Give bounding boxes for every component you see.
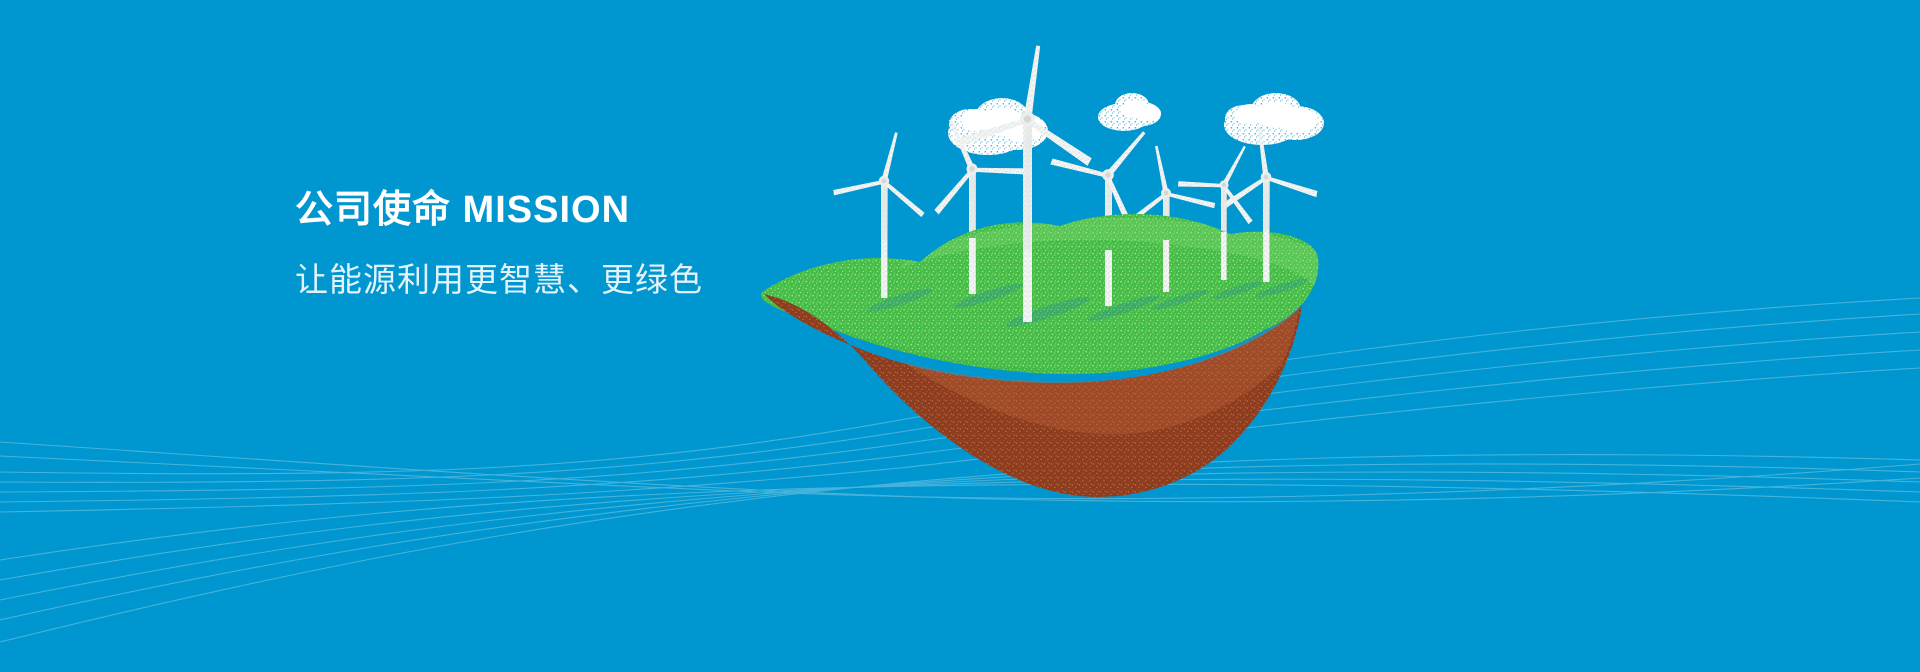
floating-island-wind-farm-illustration [740,30,1380,520]
mission-banner: 公司使命 MISSION 让能源利用更智慧、更绿色 [0,0,1920,672]
cloud-middle [1098,93,1161,131]
cloud-right [1224,93,1324,145]
